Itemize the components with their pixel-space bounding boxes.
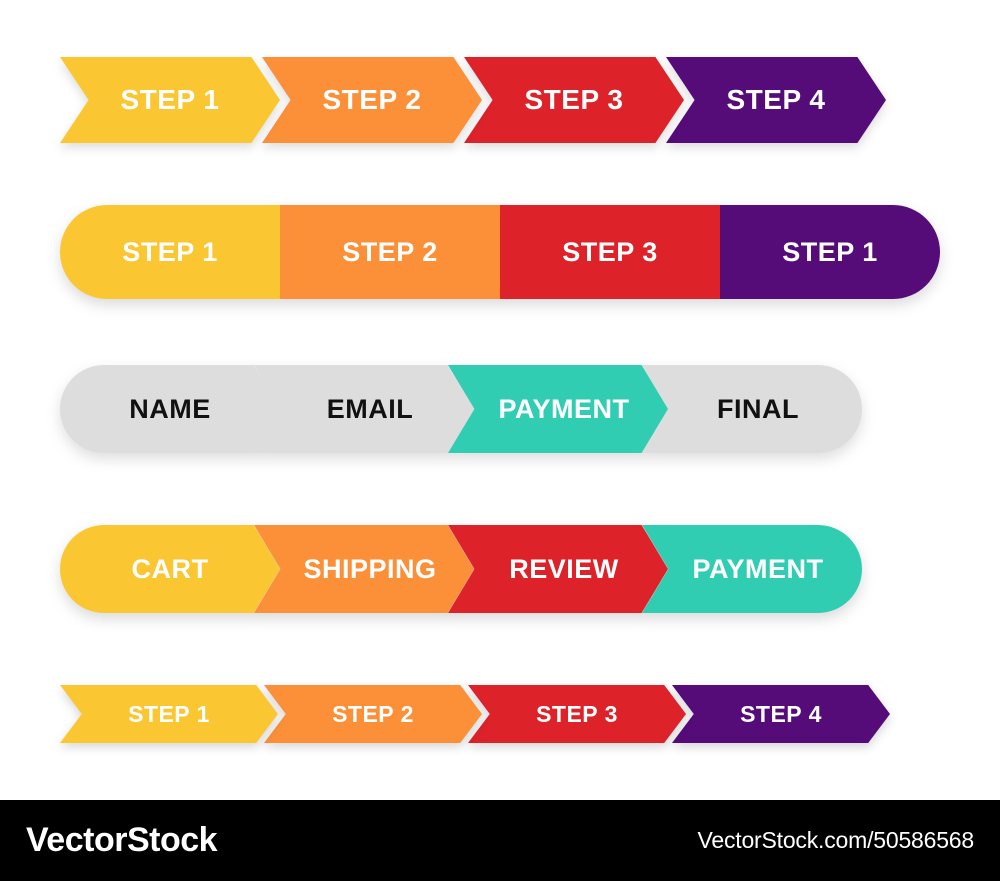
stage-segment-label: FINAL <box>717 396 799 423</box>
step-segment[interactable]: STEP 4 <box>666 57 886 143</box>
stage-segment-label: PAYMENT <box>692 556 823 583</box>
step-segment-label: STEP 1 <box>782 239 878 266</box>
step-segment[interactable]: STEP 3 <box>500 205 720 299</box>
stage-segment[interactable]: EMAIL <box>254 365 474 453</box>
step-segment-label: STEP 2 <box>323 86 422 114</box>
step-segment[interactable]: STEP 3 <box>468 685 686 743</box>
stage-segment[interactable]: CART <box>60 525 280 613</box>
step-segment[interactable]: STEP 2 <box>280 205 500 299</box>
step-segment[interactable]: STEP 3 <box>464 57 684 143</box>
progress-bar-checkout-stages: NAME EMAIL PAYMENT FINAL <box>60 365 940 453</box>
stage-segment-label: SHIPPING <box>303 556 436 583</box>
stage-segment[interactable]: PAYMENT <box>642 525 862 613</box>
progress-bar-cart-stages: CART SHIPPING REVIEW PAYMENT <box>60 525 940 613</box>
stage-segment[interactable]: FINAL <box>642 365 862 453</box>
step-segment-label: STEP 4 <box>727 86 826 114</box>
progress-bar-flat-steps: STEP 1 STEP 2 STEP 3 STEP 1 <box>60 205 940 299</box>
step-segment[interactable]: STEP 2 <box>264 685 482 743</box>
stage-segment-label: PAYMENT <box>498 396 629 423</box>
step-segment[interactable]: STEP 1 <box>60 685 278 743</box>
stage-segment[interactable]: SHIPPING <box>254 525 474 613</box>
step-segment[interactable]: STEP 1 <box>60 57 280 143</box>
stage-segment-active[interactable]: PAYMENT <box>448 365 668 453</box>
progress-bar-slim-steps: STEP 1 STEP 2 STEP 3 STEP 4 <box>60 685 940 743</box>
step-segment-label: STEP 2 <box>332 703 414 726</box>
stage-segment-label: REVIEW <box>509 556 619 583</box>
step-segment[interactable]: STEP 2 <box>262 57 482 143</box>
step-segment-label: STEP 4 <box>740 703 822 726</box>
vectorstock-logo-text: VectorStock <box>26 821 217 860</box>
stage-segment-label: NAME <box>129 396 211 423</box>
step-segment[interactable]: STEP 1 <box>60 205 280 299</box>
progress-bar-chevron-steps: STEP 1 STEP 2 STEP 3 STEP 4 <box>60 57 940 143</box>
watermark-footer: VectorStock VectorStock.com/50586568 <box>0 800 1000 881</box>
step-segment-label: STEP 3 <box>525 86 624 114</box>
vectorstock-url-text: VectorStock.com/50586568 <box>698 827 975 854</box>
step-segment[interactable]: STEP 4 <box>672 685 890 743</box>
step-segment-label: STEP 1 <box>121 86 220 114</box>
step-segment-label: STEP 2 <box>342 239 438 266</box>
stage-segment-label: CART <box>132 556 209 583</box>
step-segment-label: STEP 1 <box>122 239 218 266</box>
stage-segment-label: EMAIL <box>327 396 414 423</box>
stage-segment[interactable]: REVIEW <box>448 525 668 613</box>
step-segment-label: STEP 3 <box>536 703 618 726</box>
stage-segment[interactable]: NAME <box>60 365 280 453</box>
step-segment-label: STEP 3 <box>562 239 658 266</box>
step-segment[interactable]: STEP 1 <box>720 205 940 299</box>
step-segment-label: STEP 1 <box>128 703 210 726</box>
illustration-canvas: STEP 1 STEP 2 STEP 3 STEP 4 STEP 1 STEP … <box>0 0 1000 800</box>
